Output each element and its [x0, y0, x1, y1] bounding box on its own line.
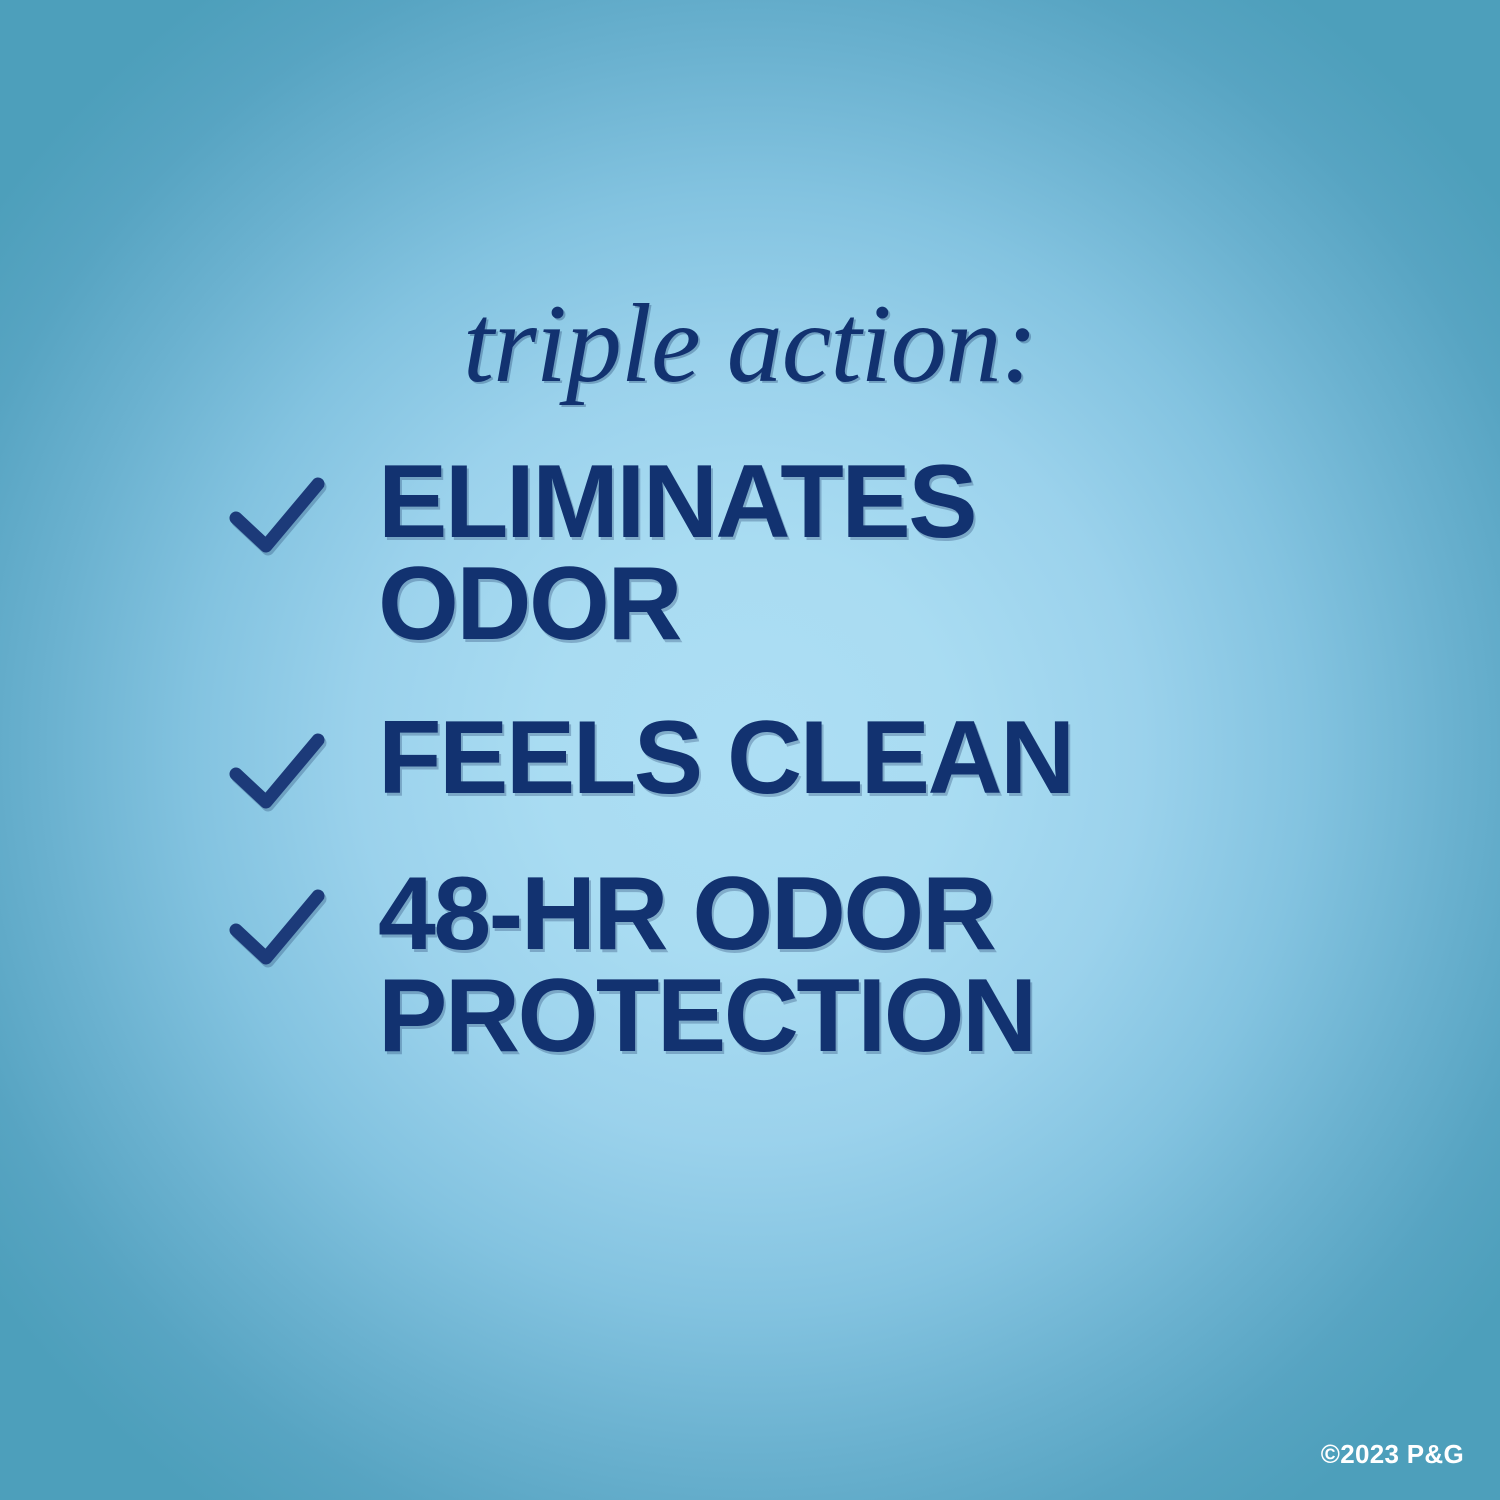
list-item: FEELS CLEAN: [228, 708, 1298, 812]
check-icon-wrapper: [228, 452, 378, 556]
list-item: 48-HR ODOR PROTECTION: [228, 864, 1298, 1068]
check-icon-wrapper: [228, 864, 378, 968]
check-icon-wrapper: [228, 708, 378, 812]
benefit-list: ELIMINATES ODOR FEELS CLEAN 48-HR ODOR P…: [228, 452, 1298, 1068]
benefit-label: FEELS CLEAN: [378, 708, 1298, 810]
check-icon: [228, 886, 326, 968]
benefit-label: ELIMINATES ODOR: [378, 452, 1298, 656]
headline-row: triple action:: [0, 288, 1500, 400]
benefit-label: 48-HR ODOR PROTECTION: [378, 864, 1298, 1068]
page-title: triple action:: [463, 288, 1037, 400]
check-icon: [228, 730, 326, 812]
product-claim-graphic: triple action: ELIMINATES ODOR FEELS CLE…: [0, 0, 1500, 1500]
copyright-notice: ©2023 P&G: [1321, 1439, 1464, 1470]
check-icon: [228, 474, 326, 556]
list-item: ELIMINATES ODOR: [228, 452, 1298, 656]
